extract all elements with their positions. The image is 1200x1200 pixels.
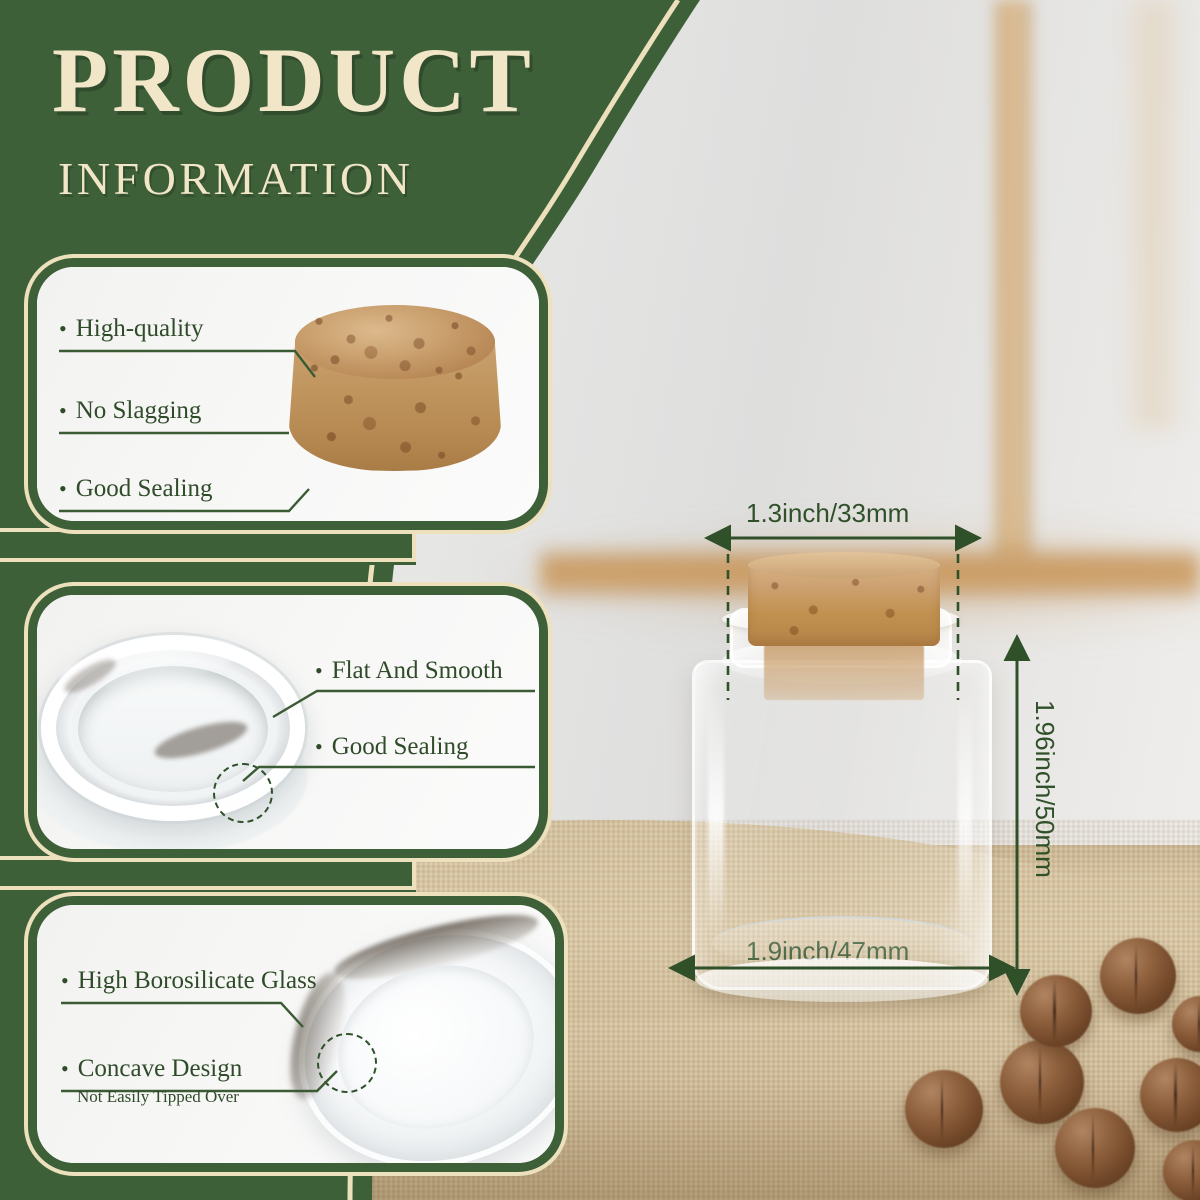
background-wooden-post [990, 0, 1036, 560]
feature-callout: • Good Sealing [315, 733, 469, 761]
feature-text-row: • No Slagging [59, 397, 201, 425]
feature-text-row: • Flat And Smooth [315, 657, 503, 685]
cork-plug-inside-neck [764, 644, 924, 700]
infographic-stage: 1.3inch/33mm 1.96inch/50mm 1.9inch/47mm … [0, 0, 1200, 1200]
feature-callout: • Concave Design Not Easily Tipped Over [61, 1055, 242, 1107]
feature-label: Good Sealing [76, 475, 213, 503]
feature-label: Concave Design [78, 1055, 243, 1083]
card-connector-band [0, 853, 416, 893]
macadamia-nut [905, 1070, 983, 1148]
feature-label: No Slagging [76, 397, 202, 425]
callout-leader-lines [37, 595, 548, 858]
feature-callout: • Good Sealing [59, 475, 213, 503]
feature-label: High-quality [76, 315, 204, 343]
feature-text-row: • High-quality [59, 315, 203, 343]
cork-lid-top [748, 552, 940, 578]
jar-foot [696, 958, 988, 1002]
page-title: PRODUCT [52, 34, 535, 128]
dimension-lid-width-label: 1.3inch/33mm [746, 498, 909, 529]
bullet-icon: • [315, 736, 323, 758]
feature-label: Flat And Smooth [332, 657, 503, 685]
card-connector-tick [412, 856, 416, 890]
feature-text-row: • Good Sealing [59, 475, 213, 503]
page-title-block: PRODUCT INFORMATION [52, 34, 535, 205]
macadamia-nut [1000, 1040, 1084, 1124]
card-connector-band [0, 525, 416, 565]
jar-highlight-right [958, 690, 972, 940]
callout-leader-lines [37, 905, 564, 1172]
dimension-jar-height-label: 1.96inch/50mm [1029, 700, 1060, 878]
jar-highlight-left [708, 690, 724, 940]
feature-callout: • No Slagging [59, 397, 201, 425]
macadamia-nut [1100, 938, 1176, 1014]
bullet-icon: • [59, 400, 67, 422]
feature-text-row: • Good Sealing [315, 733, 469, 761]
feature-callout: • Flat And Smooth [315, 657, 503, 685]
bullet-icon: • [61, 1058, 69, 1080]
feature-label: Good Sealing [332, 733, 469, 761]
card-connector-tick [412, 528, 416, 562]
feature-card-jar-bottom: • High Borosilicate Glass • Concave Desi… [28, 896, 564, 1172]
bullet-icon: • [315, 660, 323, 682]
feature-callout: • High Borosilicate Glass [61, 967, 317, 995]
feature-label: High Borosilicate Glass [78, 967, 317, 995]
bullet-icon: • [59, 478, 67, 500]
feature-callout: • High-quality [59, 315, 203, 343]
macadamia-nut [1055, 1108, 1135, 1188]
feature-text-row: • High Borosilicate Glass [61, 967, 317, 995]
bullet-icon: • [59, 318, 67, 340]
feature-sub-note: Not Easily Tipped Over [77, 1087, 242, 1107]
feature-text-row: • Concave Design [61, 1055, 242, 1083]
bullet-icon: • [61, 970, 69, 992]
feature-card-glass-rim: • Flat And Smooth • Good Sealing [28, 586, 548, 858]
macadamia-nut [1020, 975, 1092, 1047]
feature-card-cork-lid: • High-quality • No Slagging • Good Seal… [28, 258, 548, 530]
page-subtitle: INFORMATION [58, 152, 535, 205]
background-post-far [1120, 0, 1190, 430]
glass-jar [660, 560, 1030, 1020]
